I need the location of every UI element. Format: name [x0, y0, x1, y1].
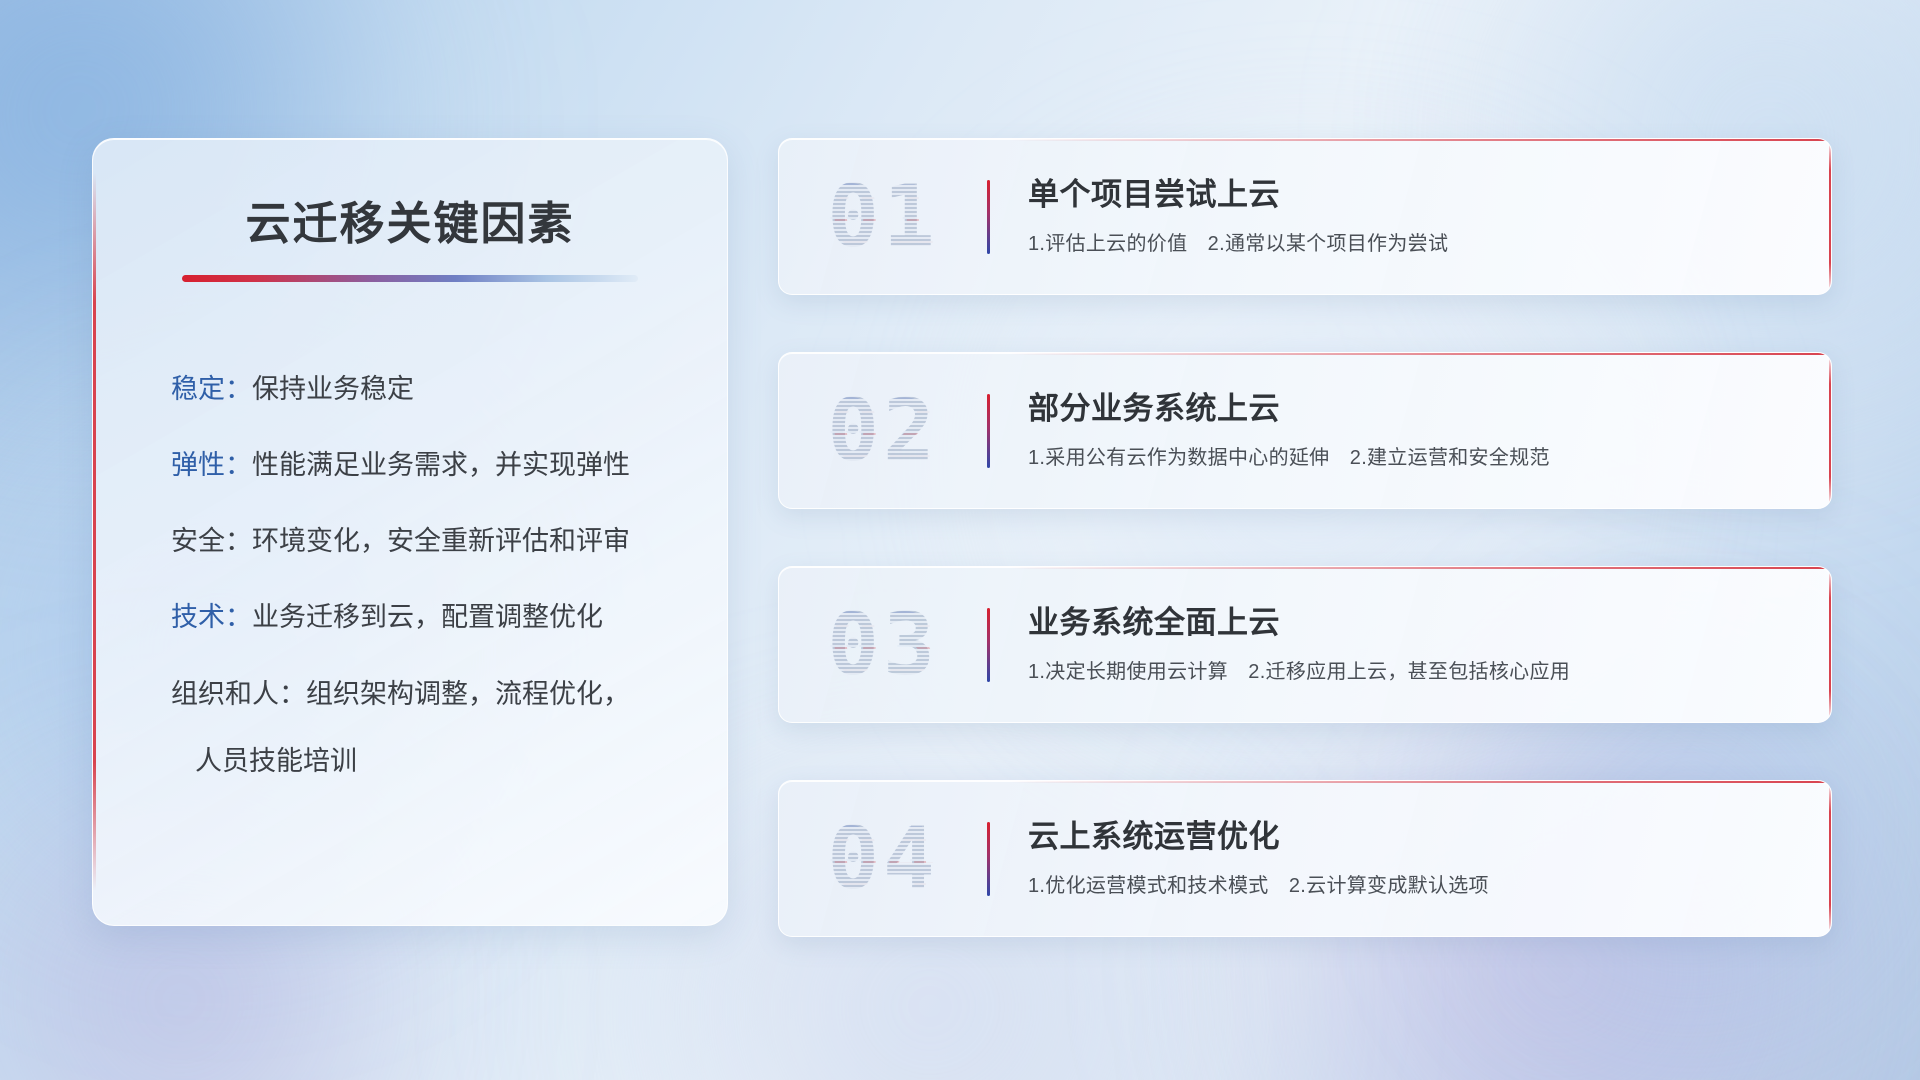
factor-value: 组织架构调整，流程优化， — [306, 679, 630, 709]
factor-value: 保持业务稳定 — [252, 374, 414, 404]
factor-value: 环境变化，安全重新评估和评审 — [252, 526, 630, 556]
step-card[interactable]: 01 单个项目尝试上云 1.评估上云的价值 2.通常以某个项目作为尝试 — [778, 138, 1832, 295]
step-number-watermark: 01 — [779, 139, 987, 294]
page-title: 云迁移关键因素 — [147, 197, 673, 251]
factor-value: 业务迁移到云，配置调整优化 — [252, 602, 603, 632]
step-card[interactable]: 03 业务系统全面上云 1.决定长期使用云计算 2.迁移应用上云，甚至包括核心应… — [778, 566, 1832, 723]
title-underline-rule — [182, 275, 638, 282]
step-number-watermark: 03 — [779, 567, 987, 722]
step-number-watermark: 02 — [779, 353, 987, 508]
step-number-glyph: 03 — [827, 595, 939, 695]
factor-key: 组织和人： — [171, 679, 306, 709]
step-description: 1.优化运营模式和技术模式 2.云计算变成默认选项 — [1028, 873, 1489, 899]
list-item: 安全：环境变化，安全重新评估和评审 — [171, 522, 673, 561]
step-title: 单个项目尝试上云 — [1028, 176, 1448, 213]
step-title: 云上系统运营优化 — [1028, 818, 1489, 855]
factor-continuation: 人员技能培训 — [171, 742, 673, 781]
step-card[interactable]: 04 云上系统运营优化 1.优化运营模式和技术模式 2.云计算变成默认选项 — [778, 780, 1832, 937]
step-number-glyph: 02 — [827, 381, 939, 481]
list-item: 稳定：保持业务稳定 — [171, 370, 673, 409]
step-number-glyph: 04 — [827, 809, 939, 909]
step-description: 1.评估上云的价值 2.通常以某个项目作为尝试 — [1028, 231, 1448, 257]
factor-key: 技术： — [171, 602, 252, 632]
factor-list: 稳定：保持业务稳定 弹性：性能满足业务需求，并实现弹性 安全：环境变化，安全重新… — [147, 370, 673, 781]
migration-steps-list: 01 单个项目尝试上云 1.评估上云的价值 2.通常以某个项目作为尝试 02 部… — [778, 138, 1832, 994]
factor-key: 安全： — [171, 526, 252, 556]
list-item: 组织和人：组织架构调整，流程优化， — [171, 675, 673, 714]
step-description: 1.采用公有云作为数据中心的延伸 2.建立运营和安全规范 — [1028, 445, 1550, 471]
list-item: 弹性：性能满足业务需求，并实现弹性 — [171, 446, 673, 485]
step-description: 1.决定长期使用云计算 2.迁移应用上云，甚至包括核心应用 — [1028, 659, 1570, 685]
factor-key: 弹性： — [171, 450, 252, 480]
factor-value: 性能满足业务需求，并实现弹性 — [252, 450, 630, 480]
step-card[interactable]: 02 部分业务系统上云 1.采用公有云作为数据中心的延伸 2.建立运营和安全规范 — [778, 352, 1832, 509]
factor-key: 稳定： — [171, 374, 252, 404]
step-title: 部分业务系统上云 — [1028, 390, 1550, 427]
key-factors-panel: 云迁移关键因素 稳定：保持业务稳定 弹性：性能满足业务需求，并实现弹性 安全：环… — [92, 138, 728, 926]
step-title: 业务系统全面上云 — [1028, 604, 1570, 641]
step-number-glyph: 01 — [827, 167, 939, 267]
list-item: 技术：业务迁移到云，配置调整优化 — [171, 598, 673, 637]
step-number-watermark: 04 — [779, 781, 987, 936]
